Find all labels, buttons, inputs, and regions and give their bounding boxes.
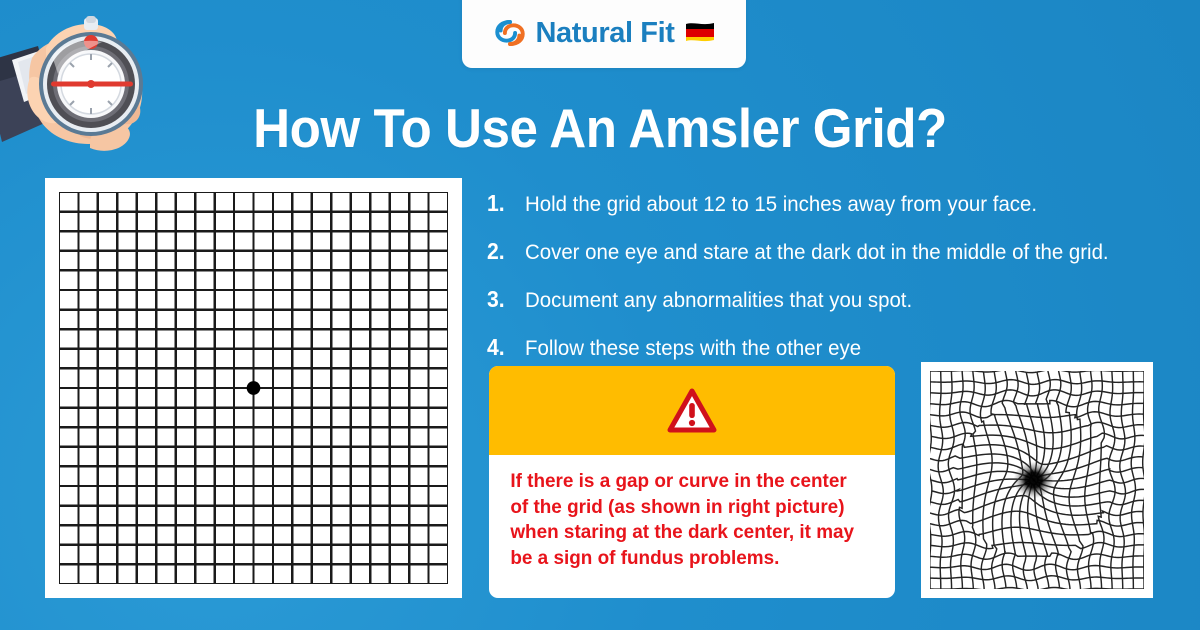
- step-text: Document any abnormalities that you spot…: [525, 287, 912, 314]
- brand-logo-text: Natural Fit: [536, 17, 675, 50]
- warning-card-text: If there is a gap or curve in the center…: [489, 455, 883, 598]
- amsler-grid-card: [45, 178, 462, 598]
- amsler-grid-normal: [59, 192, 448, 584]
- warning-card: If there is a gap or curve in the center…: [489, 366, 895, 598]
- page-title: How To Use An Amsler Grid?: [42, 96, 1158, 160]
- step-number: 2.: [487, 238, 522, 265]
- step-number: 4.: [487, 334, 522, 361]
- germany-flag-icon: [684, 21, 716, 45]
- warning-card-header: [489, 366, 895, 455]
- list-item: 3. Document any abnormalities that you s…: [487, 286, 1177, 314]
- list-item: 1. Hold the grid about 12 to 15 inches a…: [487, 190, 1177, 218]
- step-number: 3.: [487, 286, 522, 313]
- amsler-grid-distorted: [930, 371, 1144, 589]
- list-item: 2. Cover one eye and stare at the dark d…: [487, 238, 1177, 266]
- list-item: 4. Follow these steps with the other eye: [487, 334, 1177, 362]
- brand-logo-card: Natural Fit: [462, 0, 746, 68]
- instruction-steps-list: 1. Hold the grid about 12 to 15 inches a…: [487, 190, 1177, 382]
- step-text: Cover one eye and stare at the dark dot …: [525, 239, 1109, 266]
- warning-triangle-icon: [667, 388, 717, 433]
- step-number: 1.: [487, 190, 522, 217]
- natural-fit-loop-logo-icon: [493, 16, 527, 50]
- step-text: Follow these steps with the other eye: [525, 335, 861, 362]
- step-text: Hold the grid about 12 to 15 inches away…: [525, 191, 1037, 218]
- distorted-grid-card: [921, 362, 1153, 598]
